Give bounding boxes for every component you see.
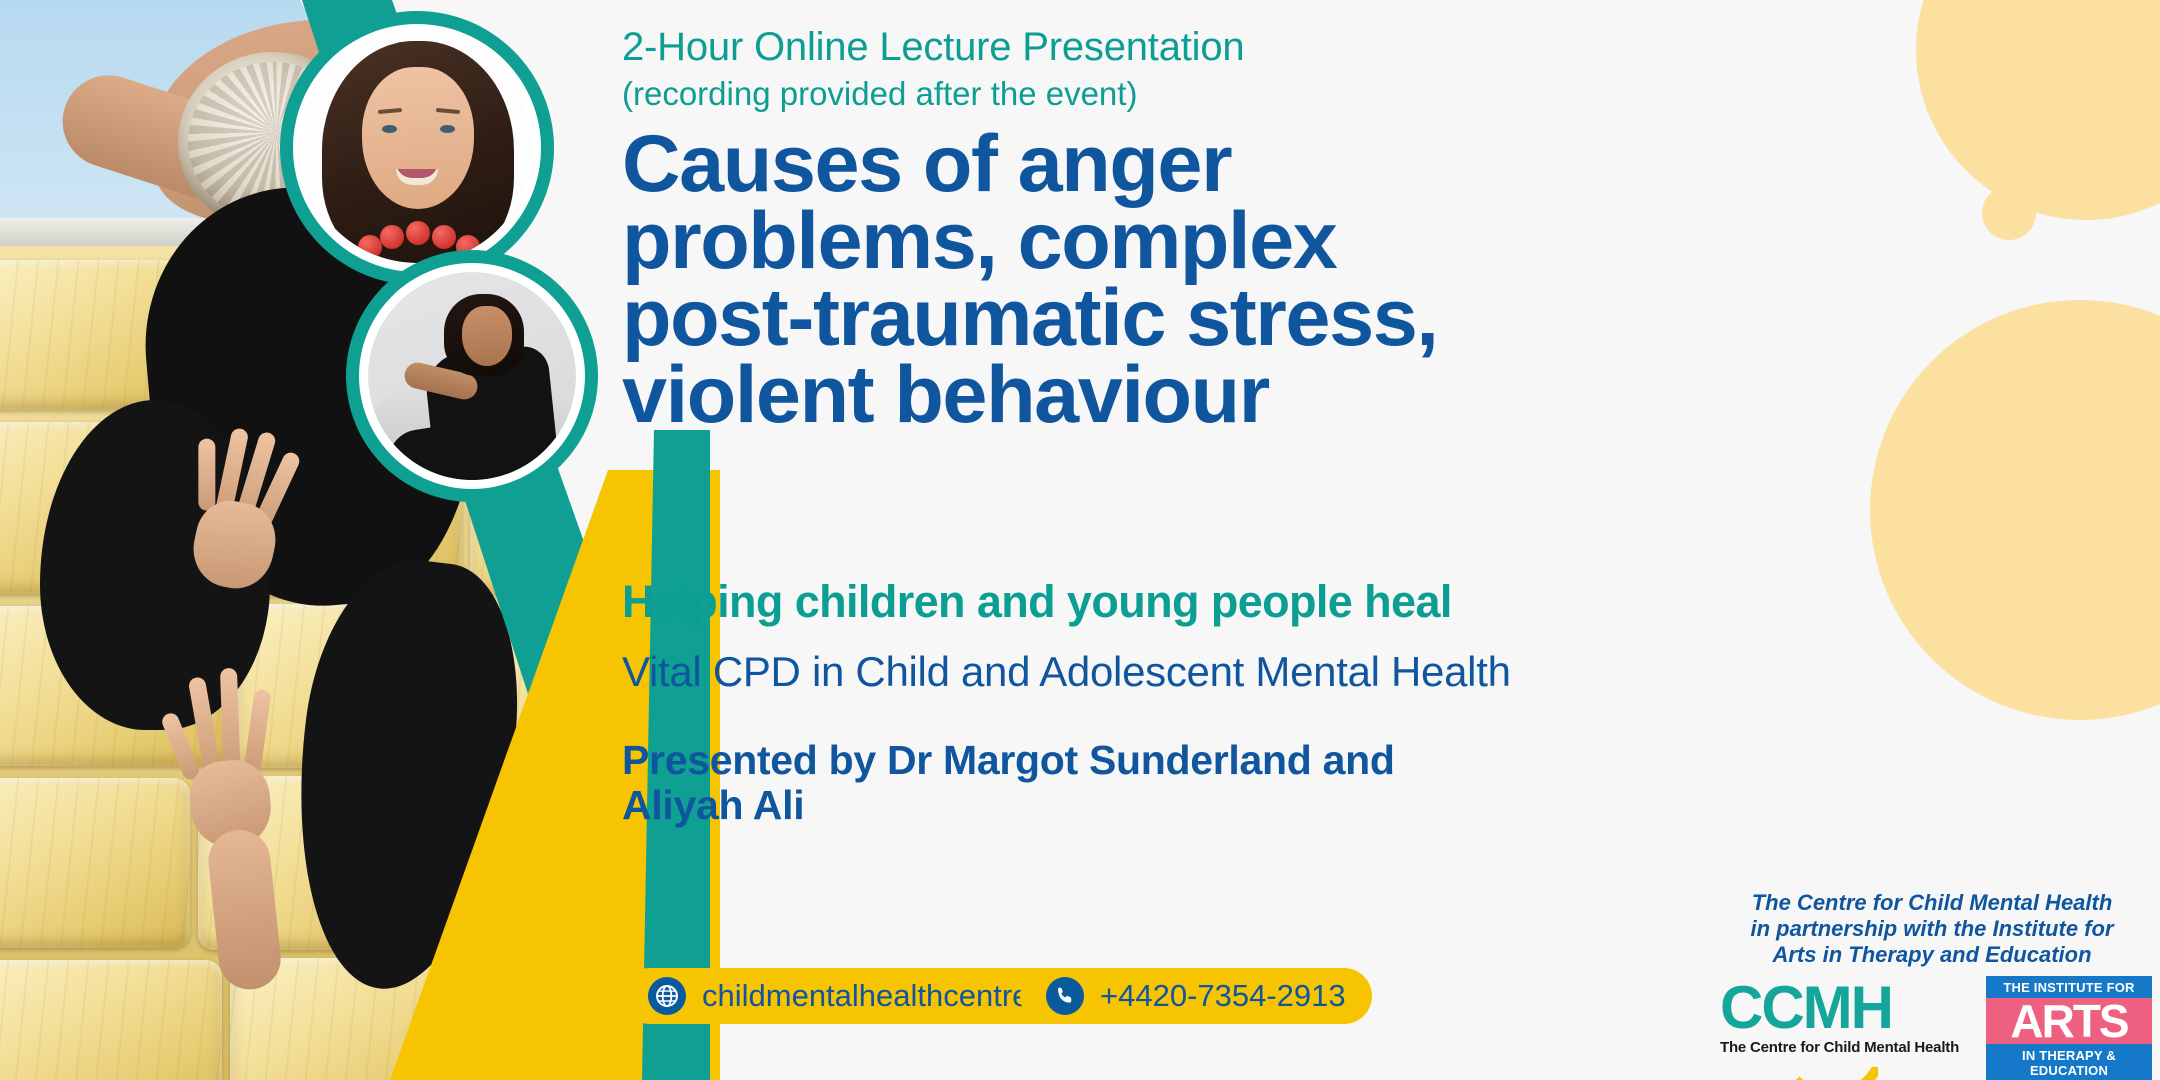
event-format-line: 2-Hour Online Lecture Presentation [622, 26, 1244, 69]
content-column: 2-Hour Online Lecture Presentation (reco… [622, 0, 2160, 1080]
title-line-3: post-traumatic stress, [622, 280, 1522, 357]
title-line-1: Causes of anger [622, 126, 1522, 203]
title-line-4: violent behaviour [622, 357, 1522, 434]
logo-row: CCMH The Centre for Child Mental Health … [1712, 978, 2152, 1078]
event-recording-note: (recording provided after the event) [622, 76, 1137, 112]
iate-arts-wordmark: ARTS [1986, 998, 2152, 1044]
portrait-aliyah-image [368, 272, 576, 480]
ccmh-wordmark: CCMH [1720, 978, 1970, 1038]
phone-icon [1046, 977, 1084, 1015]
ccmh-logo: CCMH The Centre for Child Mental Health [1720, 978, 1970, 1078]
portrait-margot-image [302, 33, 532, 263]
title-line-2: problems, complex [622, 203, 1522, 280]
institute-arts-logo: THE INSTITUTE FOR ARTS IN THERAPY & EDUC… [1986, 976, 2152, 1080]
partnership-statement: The Centre for Child Mental Health in pa… [1712, 890, 2152, 968]
portrait-aliyah-ali [368, 272, 576, 480]
iate-bottom-band: IN THERAPY & EDUCATION [1986, 1044, 2152, 1080]
partnership-line-2: in partnership with the Institute for [1712, 916, 2152, 942]
ccmh-smile-arc [1776, 1044, 1888, 1080]
lecture-promo-banner: 2-Hour Online Lecture Presentation (reco… [0, 0, 2160, 1080]
phone-pill[interactable]: +4420-7354-2913 [1020, 968, 1372, 1024]
partnership-line-1: The Centre for Child Mental Health [1712, 890, 2152, 916]
partnership-line-3: Arts in Therapy and Education [1712, 942, 2152, 968]
page-subtitle: Helping children and young people heal [622, 576, 1452, 628]
portrait-margot-sunderland [302, 33, 532, 263]
presenter-line: Presented by Dr Margot Sunderland and Al… [622, 738, 1502, 828]
globe-icon [648, 977, 686, 1015]
page-title: Causes of anger problems, complex post-t… [622, 126, 1522, 434]
cpd-tagline: Vital CPD in Child and Adolescent Mental… [622, 648, 1511, 696]
phone-label: +4420-7354-2913 [1100, 978, 1346, 1014]
